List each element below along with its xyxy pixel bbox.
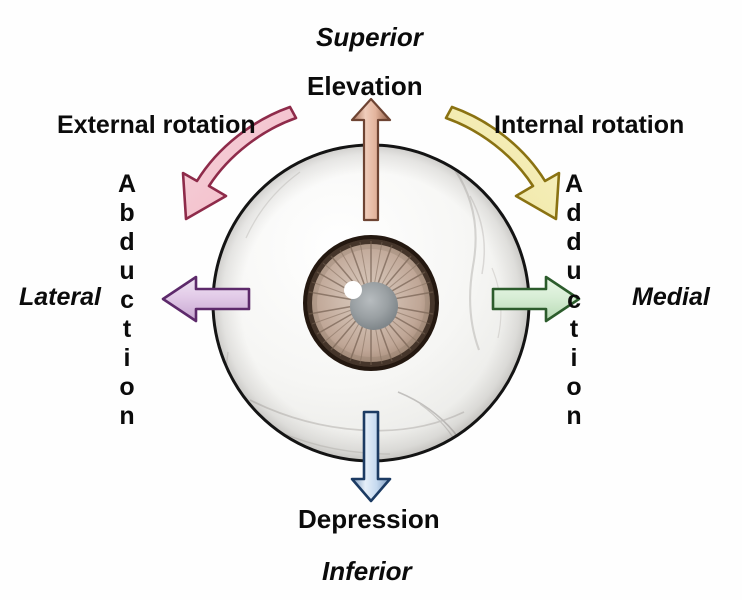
label-elevation: Elevation [307, 73, 423, 99]
adduction-letter: d [566, 201, 581, 230]
abduction-letter: c [120, 288, 134, 317]
abduction-letter: b [119, 201, 134, 230]
adduction-letter: d [566, 230, 581, 259]
abduction-letter: d [119, 230, 134, 259]
label-internal-rotation: Internal rotation [494, 113, 684, 138]
label-lateral: Lateral [19, 285, 101, 310]
abduction-letter: t [123, 317, 131, 346]
adduction-letter: i [571, 346, 578, 375]
adduction-letter: u [566, 259, 581, 288]
adduction-letter: c [567, 288, 581, 317]
label-inferior: Inferior [322, 558, 412, 584]
adduction-letter: A [565, 172, 583, 201]
adduction-letter: n [566, 404, 581, 433]
adduction-letter: t [570, 317, 578, 346]
abduction-letter: o [119, 375, 134, 404]
label-external-rotation: External rotation [57, 113, 256, 138]
label-depression: Depression [298, 506, 440, 532]
abduction-letter: i [124, 346, 131, 375]
abduction-letter: u [119, 259, 134, 288]
iris [305, 237, 437, 369]
adduction-letter: o [566, 375, 581, 404]
pupil-highlight [344, 281, 362, 299]
label-adduction: A d d u c t i o n [565, 172, 583, 433]
abduction-letter: A [118, 172, 136, 201]
label-medial: Medial [632, 285, 710, 310]
label-abduction: A b d u c t i o n [118, 172, 136, 433]
label-superior: Superior [316, 24, 423, 50]
eye-movement-diagram: Superior Inferior Lateral Medial Elevati… [0, 0, 742, 600]
abduction-letter: n [119, 404, 134, 433]
